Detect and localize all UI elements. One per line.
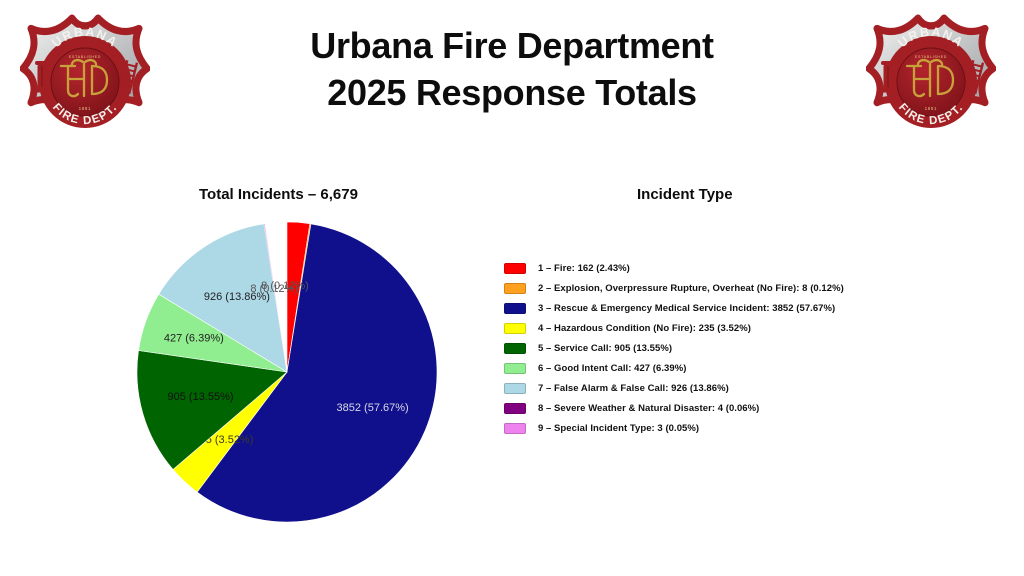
legend-item-9[interactable]: 9 – Special Incident Type: 3 (0.05%) xyxy=(504,418,924,438)
pie-svg: 3852 (57.67%)235 (3.52%)905 (13.55%)427 … xyxy=(133,218,441,526)
legend-label-6: 6 – Good Intent Call: 427 (6.39%) xyxy=(538,363,686,374)
legend-swatch-2 xyxy=(504,283,526,294)
legend-swatch-1 xyxy=(504,263,526,274)
title-line-1: Urbana Fire Department xyxy=(212,22,812,69)
pie-slice-label-5: 905 (13.55%) xyxy=(168,391,234,403)
legend-item-3[interactable]: 3 – Rescue & Emergency Medical Service I… xyxy=(504,298,924,318)
slide-canvas: URBANA FIRE DEPT. ESTABLISHED 1881 xyxy=(0,0,1024,576)
incident-type-pie-chart: 3852 (57.67%)235 (3.52%)905 (13.55%)427 … xyxy=(133,218,441,526)
svg-text:ESTABLISHED: ESTABLISHED xyxy=(69,55,101,59)
pie-slice-label-3: 3852 (57.67%) xyxy=(337,402,409,414)
svg-text:ESTABLISHED: ESTABLISHED xyxy=(915,55,947,59)
legend-item-7[interactable]: 7 – False Alarm & False Call: 926 (13.86… xyxy=(504,378,924,398)
legend-item-5[interactable]: 5 – Service Call: 905 (13.55%) xyxy=(504,338,924,358)
legend-swatch-5 xyxy=(504,343,526,354)
urbana-fire-badge-left: URBANA FIRE DEPT. ESTABLISHED 1881 xyxy=(20,14,150,149)
legend-swatch-8 xyxy=(504,403,526,414)
legend-swatch-9 xyxy=(504,423,526,434)
legend-item-8[interactable]: 8 – Severe Weather & Natural Disaster: 4… xyxy=(504,398,924,418)
legend-title: Incident Type xyxy=(637,186,733,203)
legend-swatch-6 xyxy=(504,363,526,374)
incident-type-legend: 1 – Fire: 162 (2.43%)2 – Explosion, Over… xyxy=(504,258,924,438)
legend-label-9: 9 – Special Incident Type: 3 (0.05%) xyxy=(538,423,699,434)
svg-text:1881: 1881 xyxy=(79,106,92,111)
pie-slice-label-6: 427 (6.39%) xyxy=(164,332,224,344)
title-line-2: 2025 Response Totals xyxy=(212,69,812,116)
legend-item-2[interactable]: 2 – Explosion, Overpressure Rupture, Ove… xyxy=(504,278,924,298)
legend-item-1[interactable]: 1 – Fire: 162 (2.43%) xyxy=(504,258,924,278)
legend-label-4: 4 – Hazardous Condition (No Fire): 235 (… xyxy=(538,323,751,334)
pie-slice-label-8: 8 (0.12%) xyxy=(261,280,309,292)
legend-item-6[interactable]: 6 – Good Intent Call: 427 (6.39%) xyxy=(504,358,924,378)
svg-text:1881: 1881 xyxy=(925,106,938,111)
legend-label-2: 2 – Explosion, Overpressure Rupture, Ove… xyxy=(538,283,844,294)
urbana-fire-badge-right: URBANA FIRE DEPT. ESTABLISHED 1881 xyxy=(866,14,996,149)
legend-swatch-3 xyxy=(504,303,526,314)
legend-label-8: 8 – Severe Weather & Natural Disaster: 4… xyxy=(538,403,759,414)
legend-label-3: 3 – Rescue & Emergency Medical Service I… xyxy=(538,303,835,314)
legend-swatch-7 xyxy=(504,383,526,394)
legend-label-7: 7 – False Alarm & False Call: 926 (13.86… xyxy=(538,383,729,394)
legend-item-4[interactable]: 4 – Hazardous Condition (No Fire): 235 (… xyxy=(504,318,924,338)
legend-label-1: 1 – Fire: 162 (2.43%) xyxy=(538,263,630,274)
page-title: Urbana Fire Department 2025 Response Tot… xyxy=(212,22,812,116)
legend-label-5: 5 – Service Call: 905 (13.55%) xyxy=(538,343,672,354)
pie-chart-title: Total Incidents – 6,679 xyxy=(199,186,358,203)
legend-swatch-4 xyxy=(504,323,526,334)
